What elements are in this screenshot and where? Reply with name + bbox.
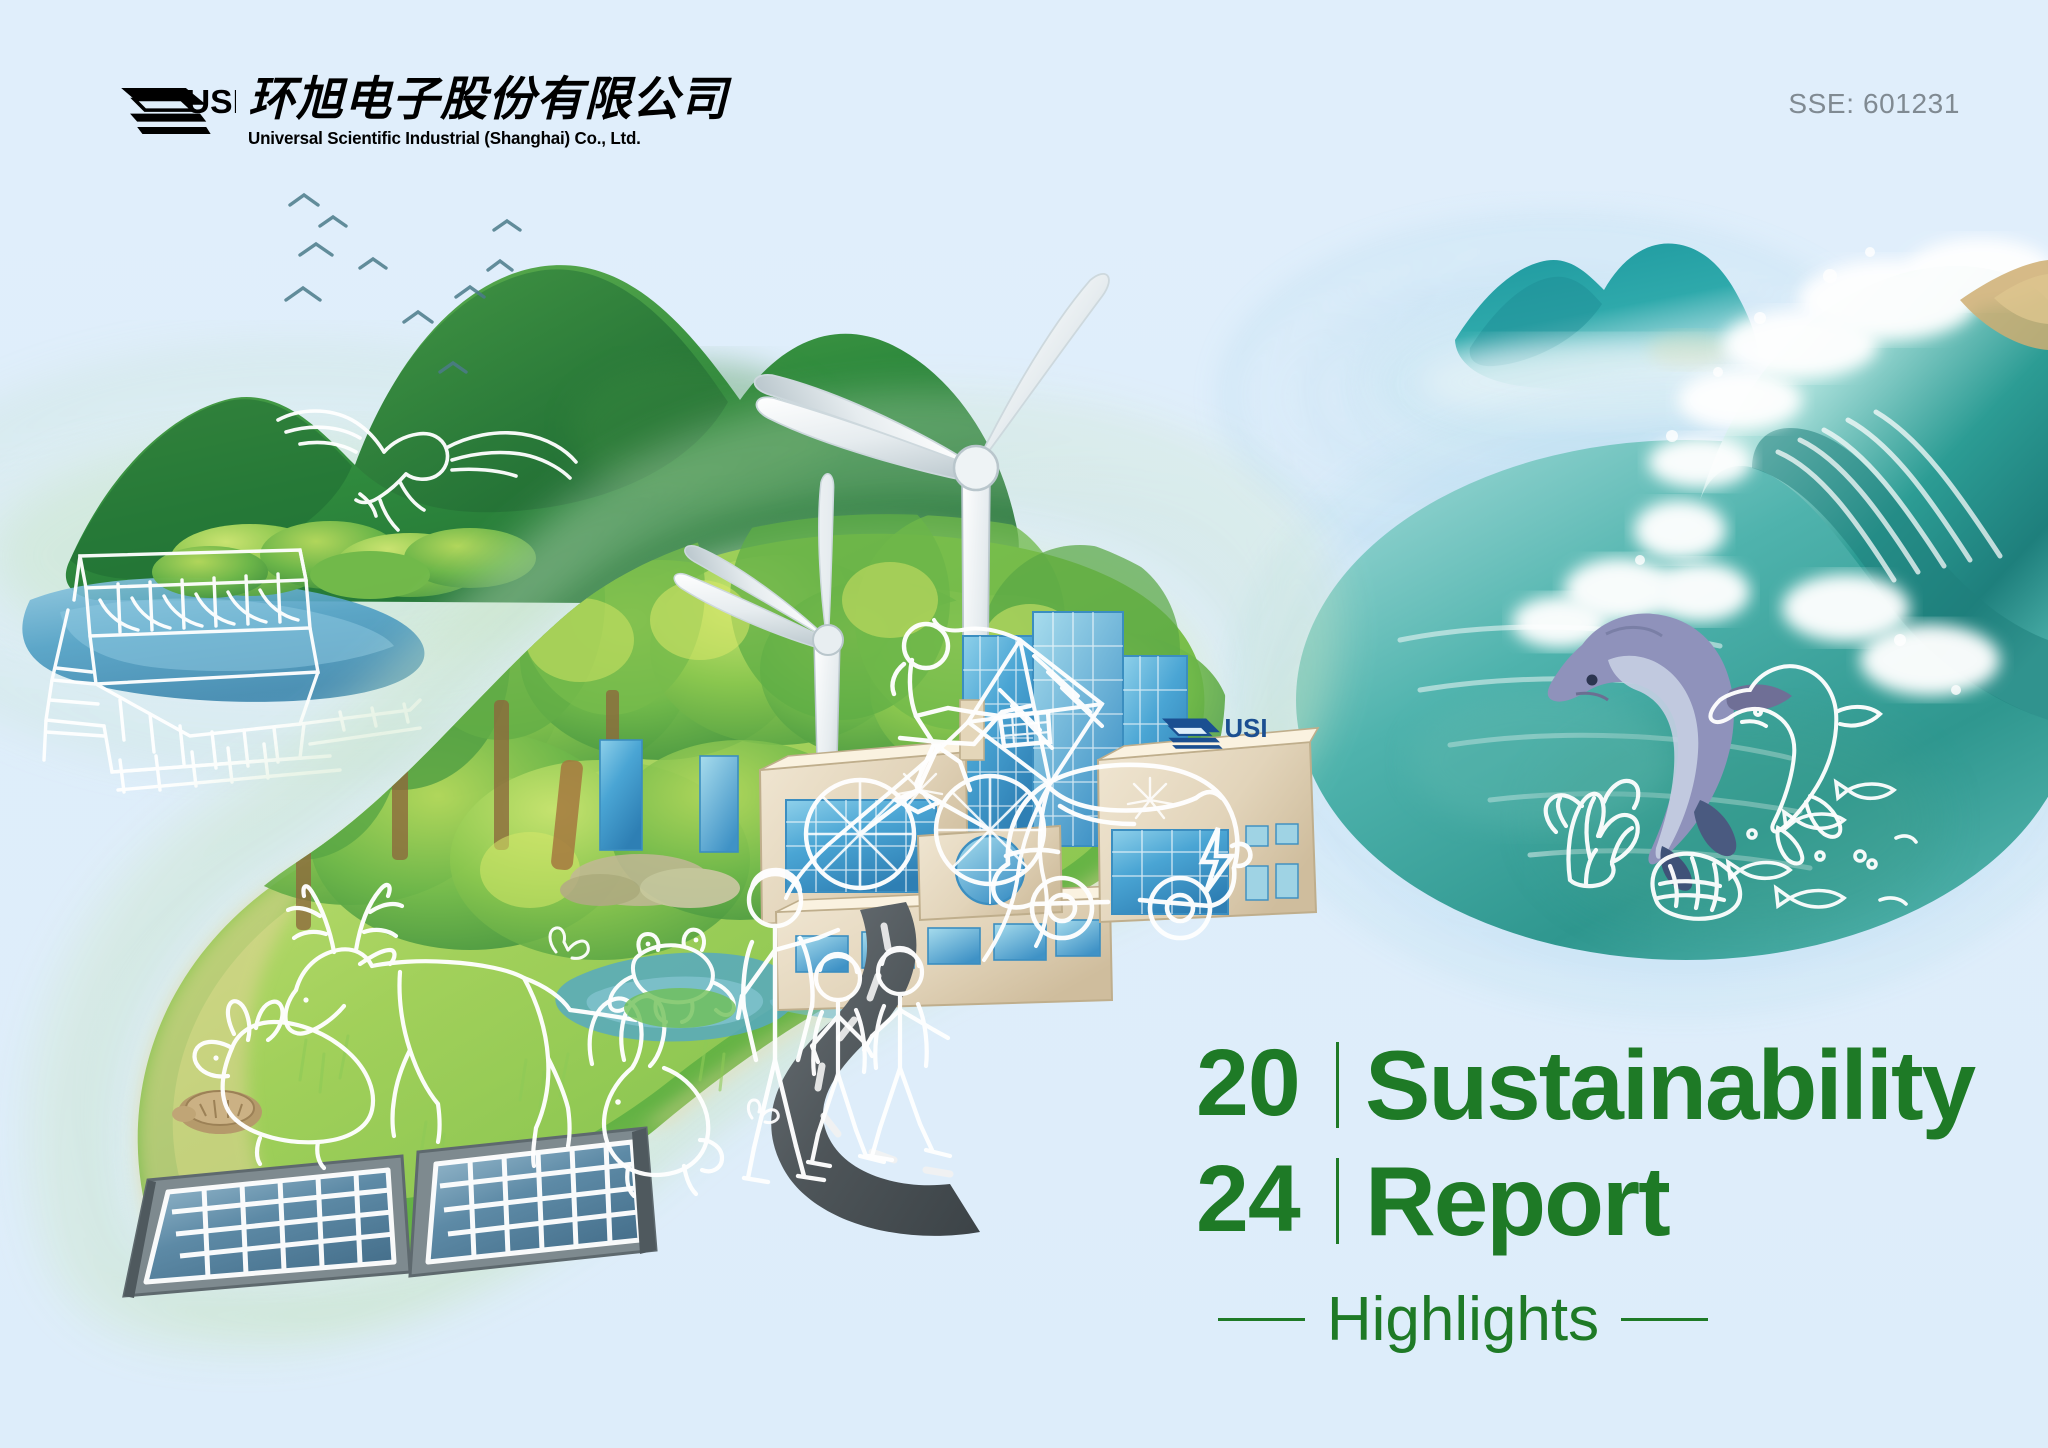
usi-logo[interactable]: USI 环旭电子股份有限公司 Universal Scientific Indu… — [118, 76, 728, 149]
usi-chevron-logo-mark: USI — [118, 80, 236, 142]
highlights-dash-right — [1621, 1318, 1708, 1321]
title-word-sustainability: Sustainability — [1339, 1036, 2016, 1134]
stock-listing-code: SSE: 601231 — [1788, 88, 1960, 120]
highlights-dash-left — [1218, 1318, 1305, 1321]
page-header: USI 环旭电子股份有限公司 Universal Scientific Indu… — [0, 0, 2048, 180]
svg-text:USI: USI — [1225, 715, 1268, 743]
title-word-report: Report — [1339, 1152, 2016, 1250]
solar-panel-1 — [124, 1156, 410, 1298]
year-top: 20 — [1196, 1036, 1336, 1134]
report-title-block: 20 Sustainability 24 Report Highlights — [1196, 1036, 2016, 1355]
highlights-subtitle: Highlights — [1327, 1284, 1599, 1355]
svg-text:USI: USI — [186, 84, 236, 121]
highlights-row: Highlights — [1218, 1284, 1708, 1355]
year-bottom: 24 — [1196, 1152, 1336, 1250]
company-name-en: Universal Scientific Industrial (Shangha… — [248, 128, 714, 149]
shrubs — [152, 521, 536, 599]
company-name-cn: 环旭电子股份有限公司 — [248, 76, 728, 124]
